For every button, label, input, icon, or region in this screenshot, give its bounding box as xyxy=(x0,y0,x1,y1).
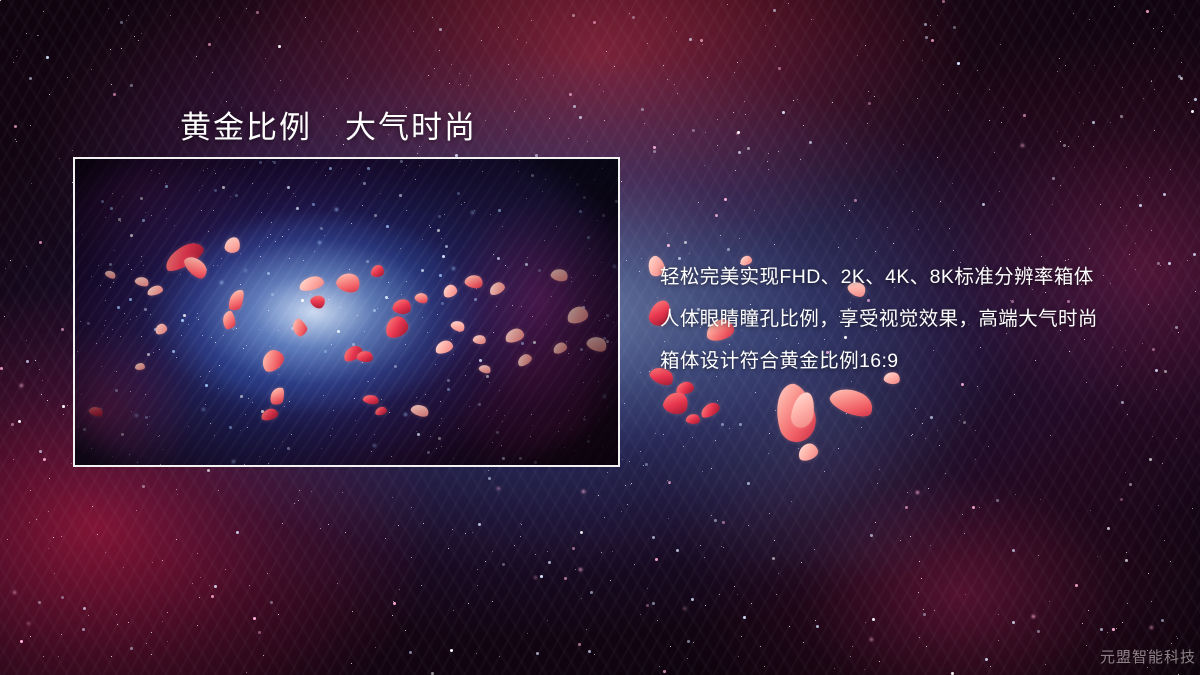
presentation-slide: 黄金比例 大气时尚 轻松完美实现FHD、2K、4K、8K标准分辨率箱体 人体眼睛… xyxy=(0,0,1200,675)
photo-vignette xyxy=(75,159,618,465)
body-line-2: 人体眼睛瞳孔比例，享受视觉效果，高端大气时尚 xyxy=(660,298,1098,340)
body-line-3: 箱体设计符合黄金比例16:9 xyxy=(660,340,1098,382)
slide-body-text: 轻松完美实现FHD、2K、4K、8K标准分辨率箱体 人体眼睛瞳孔比例，享受视觉效… xyxy=(660,256,1098,382)
body-line-1: 轻松完美实现FHD、2K、4K、8K标准分辨率箱体 xyxy=(660,256,1098,298)
star-dot xyxy=(0,0,1,1)
framed-photo xyxy=(73,157,620,467)
slide-title: 黄金比例 大气时尚 xyxy=(180,102,477,147)
watermark-brand: 元盟智能科技 xyxy=(1100,646,1196,667)
